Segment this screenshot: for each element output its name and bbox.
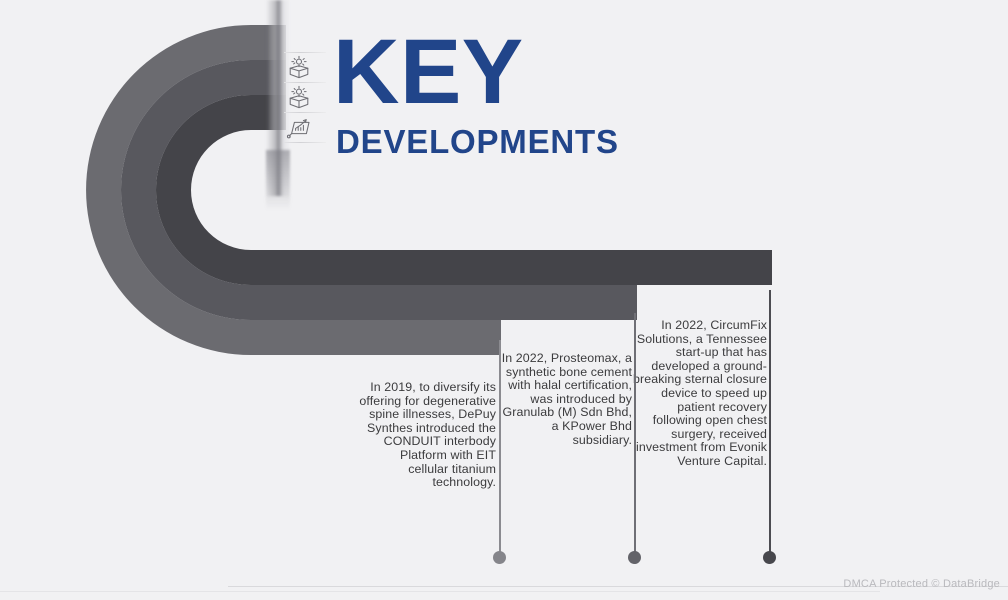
title-developments: DEVELOPMENTS (336, 125, 619, 158)
timeline-entry-text-1: In 2022, Prosteomax, a synthetic bone ce… (494, 352, 632, 447)
timeline-connector-0 (499, 340, 501, 554)
title-key: KEY (333, 30, 619, 115)
timeline-connector-1 (634, 313, 636, 554)
timeline-connector-2 (769, 290, 771, 554)
timeline-entry-text-0: In 2019, to diversify its offering for d… (358, 381, 496, 490)
icon-column (284, 52, 326, 143)
infographic-canvas: KEY DEVELOPMENTS In 2019, to diversify i… (0, 0, 1008, 600)
open-box-idea-icon (284, 53, 326, 82)
baseline-rule-secondary (0, 591, 880, 592)
timeline-dot-0 (493, 551, 506, 564)
timeline-entry-text-2: In 2022, CircumFix Solutions, a Tennesse… (629, 319, 767, 469)
icon-strip-shadow-fade (266, 150, 290, 210)
growth-chart-flag-icon (284, 113, 326, 142)
watermark-text: DMCA Protected © DataBridge (843, 578, 1000, 590)
timeline-dot-1 (628, 551, 641, 564)
page-title: KEY DEVELOPMENTS (333, 30, 619, 158)
open-box-idea-icon-2 (284, 83, 326, 112)
timeline-dot-2 (763, 551, 776, 564)
icon-separator (284, 142, 326, 143)
